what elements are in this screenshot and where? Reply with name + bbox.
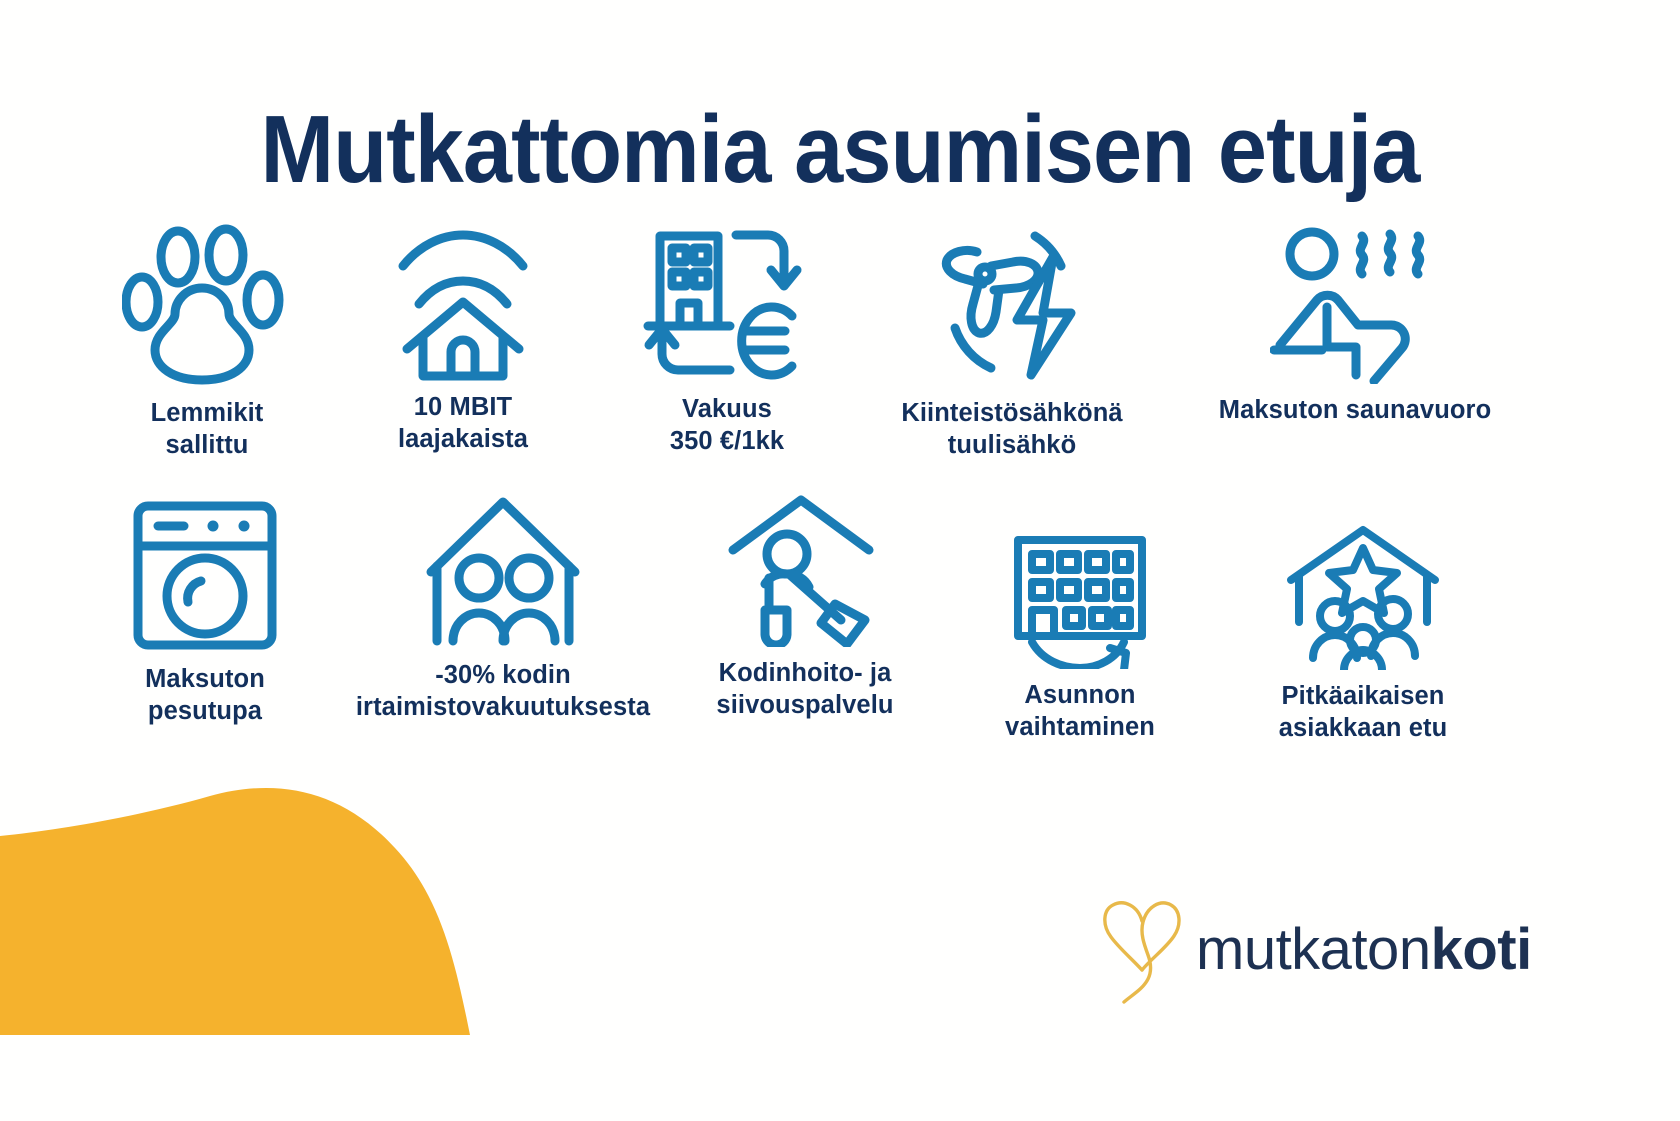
benefit-item-cleaning-service: Kodinhoito- ja siivouspalvelu xyxy=(680,492,930,721)
benefit-label: 10 MBIT laajakaista xyxy=(338,391,588,455)
logo-text-light: mutkaton xyxy=(1196,917,1431,982)
infographic-page: Mutkattomia asumisen etuja Lemmikit sall… xyxy=(0,0,1680,1121)
benefit-label: Vakuus 350 €/1kk xyxy=(602,393,852,457)
paw-print-icon xyxy=(82,222,332,387)
apartment-swap-icon xyxy=(955,534,1205,669)
building-euro-icon xyxy=(602,218,852,383)
benefit-item-apartment-swap: Asunnon vaihtaminen xyxy=(955,534,1205,743)
house-star-people-icon xyxy=(1238,522,1488,670)
benefit-item-wind-power: Kiinteistösähkönä tuulisähkö xyxy=(878,222,1146,461)
wind-turbine-bolt-icon xyxy=(878,222,1146,387)
sauna-person-icon xyxy=(1210,222,1500,384)
logo-wordmark: mutkatonkoti xyxy=(1196,916,1532,983)
wifi-house-icon xyxy=(338,226,588,381)
logo-text-bold: koti xyxy=(1431,917,1532,982)
benefit-label: Kodinhoito- ja siivouspalvelu xyxy=(680,657,930,721)
washing-machine-icon xyxy=(80,498,330,653)
house-family-icon xyxy=(338,494,668,649)
benefit-label: Maksuton pesutupa xyxy=(80,663,330,727)
benefit-item-sauna: Maksuton saunavuoro xyxy=(1210,222,1500,426)
benefit-label: Kiinteistösähkönä tuulisähkö xyxy=(878,397,1146,461)
page-title: Mutkattomia asumisen etuja xyxy=(67,100,1613,201)
heart-squiggle-icon xyxy=(1098,889,1190,1009)
benefit-item-home-insurance: -30% kodin irtaimistovakuutuksesta xyxy=(338,494,668,723)
yellow-blob-shape xyxy=(0,770,500,1060)
benefit-label: Pitkäaikaisen asiakkaan etu xyxy=(1238,680,1488,744)
benefit-label: Asunnon vaihtaminen xyxy=(955,679,1205,743)
benefit-label: Lemmikit sallittu xyxy=(82,397,332,461)
benefit-item-loyalty: Pitkäaikaisen asiakkaan etu xyxy=(1238,522,1488,744)
cleaning-person-icon xyxy=(680,492,930,647)
mutkatonkoti-logo[interactable]: mutkatonkoti xyxy=(1098,884,1568,1014)
benefit-label: Maksuton saunavuoro xyxy=(1210,394,1500,426)
benefit-label: -30% kodin irtaimistovakuutuksesta xyxy=(338,659,668,723)
benefit-item-pets: Lemmikit sallittu xyxy=(82,222,332,461)
benefit-item-deposit: Vakuus 350 €/1kk xyxy=(602,218,852,457)
benefit-item-broadband: 10 MBIT laajakaista xyxy=(338,226,588,455)
benefit-item-laundry: Maksuton pesutupa xyxy=(80,498,330,727)
